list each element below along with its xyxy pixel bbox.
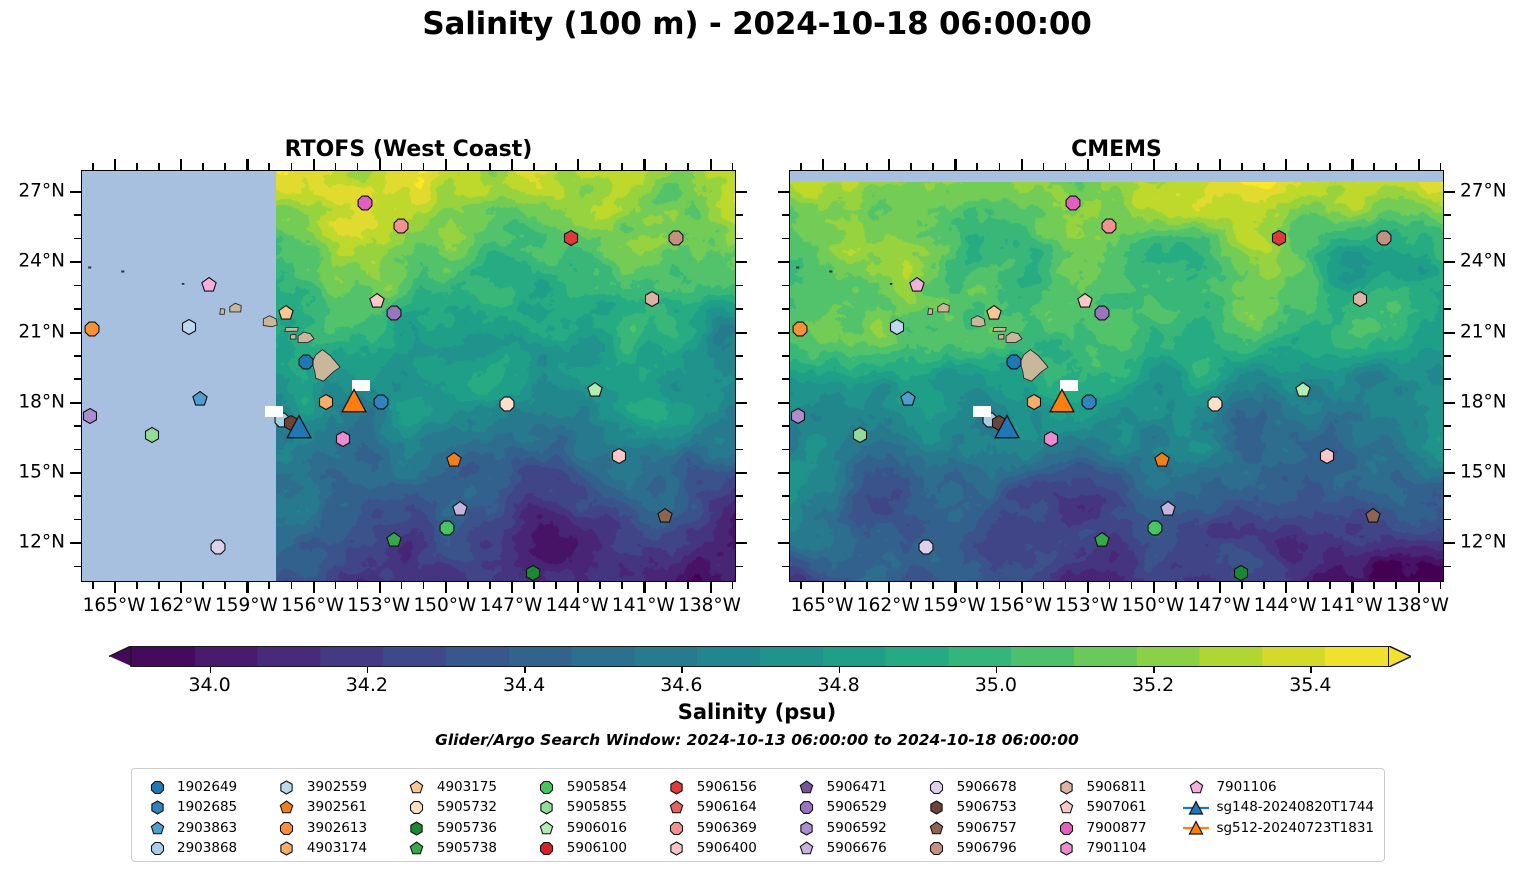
colorbar-tick-label: 34.2 xyxy=(346,674,388,696)
legend-item-5906796[interactable]: 5906796 xyxy=(922,839,1052,860)
x-tick xyxy=(1440,163,1442,170)
colorbar xyxy=(131,646,1389,667)
legend-item-7901104[interactable]: 7901104 xyxy=(1052,839,1182,860)
y-tick xyxy=(736,378,743,380)
x-tick xyxy=(335,163,337,170)
x-tick xyxy=(268,582,270,589)
argo-marker-5906016[interactable] xyxy=(1293,381,1312,400)
x-tick xyxy=(1440,582,1442,589)
x-tick xyxy=(445,582,447,593)
argo-marker-1902649[interactable] xyxy=(296,352,315,371)
x-axis-label: 144°W xyxy=(546,595,609,616)
argo-marker-5905854[interactable] xyxy=(1146,519,1165,538)
legend-item-3902561[interactable]: 3902561 xyxy=(272,798,402,819)
argo-marker-5905738[interactable] xyxy=(385,530,404,549)
argo-marker-5906369[interactable] xyxy=(391,217,410,236)
argo-marker-3902613[interactable] xyxy=(791,320,810,339)
legend-item-3902613[interactable]: 3902613 xyxy=(272,818,402,839)
y-tick xyxy=(782,238,789,240)
y-tick xyxy=(74,214,81,216)
legend[interactable]: 1902649390255949031755905854590615659064… xyxy=(131,768,1385,862)
legend-label: 5906471 xyxy=(827,781,887,795)
argo-marker-4903174[interactable] xyxy=(316,392,335,411)
legend-item-5906471[interactable]: 5906471 xyxy=(792,777,922,798)
marker-glyph xyxy=(610,446,629,465)
legend-item-5906757[interactable]: 5906757 xyxy=(922,818,1052,839)
argo-marker-7900877[interactable] xyxy=(1064,193,1083,212)
x-tick xyxy=(599,163,601,170)
legend-marker-hexagon-icon xyxy=(664,779,690,796)
x-tick xyxy=(1131,163,1133,170)
colorbar-tick-label: 35.0 xyxy=(975,674,1017,696)
x-tick xyxy=(1109,163,1111,170)
y-tick xyxy=(1444,191,1455,193)
argo-marker-3902613[interactable] xyxy=(83,320,102,339)
legend-item-7900877[interactable]: 7900877 xyxy=(1052,818,1182,839)
y-tick xyxy=(736,566,743,568)
legend-marker-pentagon-icon xyxy=(1054,799,1080,816)
x-tick xyxy=(1285,582,1287,593)
legend-item-5906156[interactable]: 5906156 xyxy=(662,777,792,798)
marker-glyph xyxy=(438,519,457,538)
argo-marker-5906678[interactable] xyxy=(916,537,935,556)
argo-marker-5906016[interactable] xyxy=(585,381,604,400)
marker-glyph xyxy=(1293,381,1312,400)
argo-marker-1902685[interactable] xyxy=(1079,392,1098,411)
x-tick xyxy=(1087,159,1089,170)
legend-label: 5906529 xyxy=(827,801,887,815)
marker-glyph xyxy=(524,563,543,582)
legend-item-5906753[interactable]: 5906753 xyxy=(922,798,1052,819)
x-axis-label: 153°W xyxy=(347,595,410,616)
legend-item-sg148-20240820T1744[interactable]: sg148-20240820T1744 xyxy=(1181,798,1374,819)
x-axis-label: 147°W xyxy=(1188,595,1251,616)
x-tick xyxy=(822,159,824,170)
x-tick xyxy=(511,159,513,170)
x-tick xyxy=(379,582,381,593)
marker-glyph xyxy=(83,320,102,339)
y-tick xyxy=(70,542,81,544)
figure: Salinity (100 m) - 2024-10-18 06:00:00 R… xyxy=(0,0,1514,889)
y-tick xyxy=(1444,214,1451,216)
y-tick xyxy=(736,332,747,334)
argo-marker-1902649[interactable] xyxy=(1004,352,1023,371)
x-tick xyxy=(180,582,182,593)
legend-item-5906811[interactable]: 5906811 xyxy=(1052,777,1182,798)
x-axis-label: 156°W xyxy=(281,595,344,616)
legend-item-4903175[interactable]: 4903175 xyxy=(402,777,532,798)
argo-marker-4903175[interactable] xyxy=(985,303,1004,322)
argo-marker-7901106[interactable] xyxy=(199,275,218,294)
y-axis-label: 27°N xyxy=(1460,181,1507,202)
argo-marker-5905738[interactable] xyxy=(1093,530,1112,549)
x-tick xyxy=(158,582,160,589)
y-tick xyxy=(1444,472,1455,474)
legend-label: 2903868 xyxy=(177,842,237,856)
y-tick xyxy=(1444,285,1451,287)
legend-item-5905854[interactable]: 5905854 xyxy=(532,777,662,798)
legend-marker-octagon-icon xyxy=(534,840,560,857)
legend-label: 1902649 xyxy=(177,781,237,795)
x-tick xyxy=(1241,163,1243,170)
argo-marker-sg512-20240723T1831[interactable] xyxy=(342,390,366,414)
argo-marker-5906592[interactable] xyxy=(80,406,99,425)
legend-marker-pentagon-icon xyxy=(144,820,170,837)
glider-label-box xyxy=(973,406,991,417)
x-tick xyxy=(888,582,890,593)
marker-glyph xyxy=(1050,390,1074,414)
marker-glyph xyxy=(180,317,199,336)
argo-marker-5905736[interactable] xyxy=(1232,563,1251,582)
marker-glyph xyxy=(444,451,463,470)
legend-item-7901106[interactable]: 7901106 xyxy=(1181,777,1374,798)
x-tick xyxy=(1263,163,1265,170)
legend-item-5906592[interactable]: 5906592 xyxy=(792,818,922,839)
x-tick xyxy=(489,582,491,589)
legend-marker-pentagon-icon xyxy=(1183,779,1209,796)
marker-glyph xyxy=(367,292,386,311)
argo-marker-1902685[interactable] xyxy=(371,392,390,411)
x-tick xyxy=(224,163,226,170)
legend-item-2903863[interactable]: 2903863 xyxy=(142,818,272,839)
legend-item-5906400[interactable]: 5906400 xyxy=(662,839,792,860)
legend-label: 5906678 xyxy=(957,781,1017,795)
y-tick xyxy=(736,495,743,497)
marker-glyph xyxy=(1318,446,1337,465)
y-tick xyxy=(782,378,789,380)
argo-marker-5906529[interactable] xyxy=(1093,303,1112,322)
x-tick xyxy=(999,582,1001,589)
legend-item-5906164[interactable]: 5906164 xyxy=(662,798,792,819)
x-tick xyxy=(1175,163,1177,170)
x-tick xyxy=(1329,163,1331,170)
argo-marker-5905855[interactable] xyxy=(142,425,161,444)
x-tick xyxy=(1131,582,1133,589)
glider-label-box xyxy=(265,406,283,417)
x-tick xyxy=(1395,163,1397,170)
x-tick xyxy=(224,582,226,589)
argo-marker-2903863[interactable] xyxy=(191,390,210,409)
y-tick xyxy=(782,308,789,310)
y-axis-label: 24°N xyxy=(1460,251,1507,272)
marker-glyph xyxy=(1042,430,1061,449)
marker-glyph xyxy=(561,228,580,247)
x-tick xyxy=(800,163,802,170)
y-tick xyxy=(1444,355,1451,357)
marker-glyph xyxy=(1093,530,1112,549)
marker-glyph xyxy=(1205,395,1224,414)
legend-marker-octagon-icon xyxy=(534,779,560,796)
search-window-caption: Glider/Argo Search Window: 2024-10-13 06… xyxy=(0,731,1514,749)
x-tick xyxy=(932,582,934,589)
x-axis-label: 144°W xyxy=(1254,595,1317,616)
legend-marker-octagon-icon xyxy=(794,799,820,816)
y-tick xyxy=(1444,542,1455,544)
x-tick xyxy=(180,159,182,170)
colorbar-tick xyxy=(1153,667,1155,673)
legend-marker-pentagon-icon xyxy=(404,840,430,857)
y-tick xyxy=(1444,402,1455,404)
argo-marker-5906676[interactable] xyxy=(1159,500,1178,519)
argo-marker-5905855[interactable] xyxy=(850,425,869,444)
legend-item-5907061[interactable]: 5907061 xyxy=(1052,798,1182,819)
argo-marker-3902561[interactable] xyxy=(1152,451,1171,470)
legend-label: 5905732 xyxy=(437,801,497,815)
y-axis-label: 15°N xyxy=(18,461,65,482)
legend-item-5906016[interactable]: 5906016 xyxy=(532,818,662,839)
y-tick xyxy=(778,542,789,544)
panel-rtofs: RTOFS (West Coast) 165°W162°W159°W156°W1… xyxy=(81,170,736,582)
x-tick xyxy=(844,582,846,589)
y-tick xyxy=(736,425,743,427)
marker-glyph xyxy=(916,537,935,556)
argo-marker-5906156[interactable] xyxy=(561,228,580,247)
legend-marker-pentagon-icon xyxy=(794,840,820,857)
x-tick xyxy=(114,582,116,593)
x-tick xyxy=(1065,582,1067,589)
x-tick xyxy=(888,159,890,170)
x-tick xyxy=(313,159,315,170)
x-tick xyxy=(866,163,868,170)
legend-item-2903868[interactable]: 2903868 xyxy=(142,839,272,860)
x-tick xyxy=(268,163,270,170)
marker-glyph xyxy=(1093,303,1112,322)
colorbar-tick xyxy=(367,667,369,673)
marker-glyph xyxy=(1024,392,1043,411)
argo-marker-5906400[interactable] xyxy=(1318,446,1337,465)
argo-marker-4903175[interactable] xyxy=(277,303,296,322)
marker-glyph xyxy=(1079,392,1098,411)
x-tick xyxy=(423,163,425,170)
x-tick xyxy=(489,163,491,170)
argo-marker-sg148-20240820T1744[interactable] xyxy=(287,416,311,440)
x-tick xyxy=(92,582,94,589)
argo-marker-3902559[interactable] xyxy=(888,317,907,336)
argo-marker-5906757[interactable] xyxy=(656,507,675,526)
x-tick xyxy=(643,159,645,170)
x-tick xyxy=(665,582,667,589)
x-tick xyxy=(92,163,94,170)
argo-marker-5906592[interactable] xyxy=(788,406,807,425)
x-tick xyxy=(1285,159,1287,170)
marker-glyph xyxy=(899,390,918,409)
y-tick xyxy=(778,191,789,193)
legend-item-sg512-20240723T1831[interactable]: sg512-20240723T1831 xyxy=(1181,818,1374,839)
argo-marker-5906400[interactable] xyxy=(610,446,629,465)
x-axis-label: 165°W xyxy=(791,595,854,616)
y-tick xyxy=(736,308,743,310)
argo-marker-5906757[interactable] xyxy=(1364,507,1383,526)
x-tick xyxy=(822,582,824,593)
x-axis-label: 147°W xyxy=(480,595,543,616)
marker-glyph xyxy=(850,425,869,444)
marker-glyph xyxy=(1351,289,1370,308)
y-tick xyxy=(1444,378,1451,380)
y-tick xyxy=(1444,425,1451,427)
legend-marker-pentagon-icon xyxy=(794,779,820,796)
legend-item-5906369[interactable]: 5906369 xyxy=(662,818,792,839)
argo-marker-5906529[interactable] xyxy=(385,303,404,322)
x-axis-label: 162°W xyxy=(149,595,212,616)
x-tick xyxy=(1109,582,1111,589)
legend-label: 5906016 xyxy=(567,822,627,836)
x-tick xyxy=(401,163,403,170)
argo-marker-5907061[interactable] xyxy=(367,292,386,311)
x-tick xyxy=(158,163,160,170)
x-tick xyxy=(932,163,934,170)
argo-marker-5905732[interactable] xyxy=(497,395,516,414)
argo-marker-7900877[interactable] xyxy=(356,193,375,212)
legend-item-1902649[interactable]: 1902649 xyxy=(142,777,272,798)
argo-marker-5906796[interactable] xyxy=(667,228,686,247)
argo-marker-5906369[interactable] xyxy=(1099,217,1118,236)
legend-item-5906676[interactable]: 5906676 xyxy=(792,839,922,860)
y-tick xyxy=(74,495,81,497)
argo-marker-2903863[interactable] xyxy=(899,390,918,409)
y-tick xyxy=(1444,519,1451,521)
argo-marker-5906811[interactable] xyxy=(1351,289,1370,308)
x-tick xyxy=(1395,582,1397,589)
no-data-strip xyxy=(790,171,1443,182)
marker-glyph xyxy=(371,392,390,411)
x-tick xyxy=(114,159,116,170)
argo-marker-sg512-20240723T1831[interactable] xyxy=(1050,390,1074,414)
colorbar-tick xyxy=(524,667,526,673)
x-tick xyxy=(357,582,359,589)
marker-glyph xyxy=(142,425,161,444)
legend-item-5906100[interactable]: 5906100 xyxy=(532,839,662,860)
argo-marker-5906811[interactable] xyxy=(643,289,662,308)
x-tick xyxy=(1043,163,1045,170)
x-tick xyxy=(1373,163,1375,170)
x-tick xyxy=(202,582,204,589)
legend-marker-octagon-icon xyxy=(274,820,300,837)
argo-marker-sg148-20240820T1744[interactable] xyxy=(995,416,1019,440)
marker-glyph xyxy=(277,303,296,322)
y-tick xyxy=(1444,308,1451,310)
y-tick xyxy=(1444,495,1451,497)
y-tick xyxy=(778,261,789,263)
y-tick xyxy=(74,425,81,427)
marker-glyph xyxy=(385,530,404,549)
marker-glyph xyxy=(656,507,675,526)
argo-marker-5905854[interactable] xyxy=(438,519,457,538)
x-axis-label: 138°W xyxy=(678,595,741,616)
y-tick xyxy=(1444,449,1451,451)
legend-item-5905736[interactable]: 5905736 xyxy=(402,818,532,839)
y-tick xyxy=(1444,261,1455,263)
x-tick xyxy=(665,163,667,170)
legend-item-5906678[interactable]: 5906678 xyxy=(922,777,1052,798)
argo-marker-5906678[interactable] xyxy=(208,537,227,556)
y-tick xyxy=(70,191,81,193)
marker-glyph xyxy=(385,303,404,322)
colorbar-tick xyxy=(681,667,683,673)
x-tick xyxy=(599,582,601,589)
x-tick xyxy=(1153,159,1155,170)
y-tick xyxy=(736,449,743,451)
y-tick xyxy=(736,542,747,544)
legend-marker-glider-icon xyxy=(1183,820,1209,836)
x-tick xyxy=(954,582,956,593)
x-tick xyxy=(246,582,248,593)
legend-item-5905732[interactable]: 5905732 xyxy=(402,798,532,819)
y-tick xyxy=(736,238,743,240)
x-tick xyxy=(1241,582,1243,589)
legend-marker-hexagon-icon xyxy=(794,820,820,837)
marker-glyph xyxy=(80,406,99,425)
legend-label: 5906369 xyxy=(697,822,757,836)
x-tick xyxy=(423,582,425,589)
argo-marker-5906676[interactable] xyxy=(451,500,470,519)
x-tick xyxy=(1418,582,1420,593)
x-tick xyxy=(976,163,978,170)
argo-marker-3902561[interactable] xyxy=(444,451,463,470)
legend-item-5906529[interactable]: 5906529 xyxy=(792,798,922,819)
legend-item-5905738[interactable]: 5905738 xyxy=(402,839,532,860)
x-tick xyxy=(999,163,1001,170)
colorbar-tick xyxy=(996,667,998,673)
argo-marker-5906156[interactable] xyxy=(1269,228,1288,247)
x-axis-label: 162°W xyxy=(857,595,920,616)
legend-marker-hexagon-icon xyxy=(664,840,690,857)
colorbar-extend-max xyxy=(1389,646,1411,666)
x-tick xyxy=(467,163,469,170)
argo-marker-3902559[interactable] xyxy=(180,317,199,336)
x-tick xyxy=(732,163,734,170)
x-tick xyxy=(1197,582,1199,589)
marker-glyph xyxy=(342,390,366,414)
y-tick xyxy=(736,519,743,521)
argo-marker-5905732[interactable] xyxy=(1205,395,1224,414)
colorbar-tick-label: 34.8 xyxy=(817,674,859,696)
x-tick xyxy=(1351,159,1353,170)
legend-marker-hexagon-icon xyxy=(924,799,950,816)
legend-label: 5906592 xyxy=(827,822,887,836)
legend-marker-hexagon-icon xyxy=(274,779,300,796)
x-tick xyxy=(1263,582,1265,589)
y-tick xyxy=(74,308,81,310)
x-tick xyxy=(1087,582,1089,593)
argo-marker-7901104[interactable] xyxy=(334,430,353,449)
argo-marker-5906796[interactable] xyxy=(1375,228,1394,247)
legend-item-3902559[interactable]: 3902559 xyxy=(272,777,402,798)
x-tick xyxy=(555,163,557,170)
x-tick xyxy=(1329,582,1331,589)
argo-marker-5905736[interactable] xyxy=(524,563,543,582)
marker-glyph xyxy=(667,228,686,247)
legend-item-1902685[interactable]: 1902685 xyxy=(142,798,272,819)
x-tick xyxy=(357,163,359,170)
panel-cmems: CMEMS 165°W162°W159°W156°W153°W150°W147°… xyxy=(789,170,1444,582)
argo-marker-4903174[interactable] xyxy=(1024,392,1043,411)
argo-marker-7901106[interactable] xyxy=(907,275,926,294)
argo-marker-5907061[interactable] xyxy=(1075,292,1094,311)
legend-item-4903174[interactable]: 4903174 xyxy=(272,839,402,860)
y-axis-label: 21°N xyxy=(1460,321,1507,342)
x-axis-label: 150°W xyxy=(1121,595,1184,616)
x-tick xyxy=(621,582,623,589)
y-tick xyxy=(74,519,81,521)
legend-item-5905855[interactable]: 5905855 xyxy=(532,798,662,819)
x-axis-label: 141°W xyxy=(612,595,675,616)
legend-label: 3902613 xyxy=(307,822,367,836)
marker-glyph xyxy=(199,275,218,294)
colorbar-label: Salinity (psu) xyxy=(0,700,1514,724)
argo-marker-7901104[interactable] xyxy=(1042,430,1061,449)
y-axis-label: 21°N xyxy=(18,321,65,342)
colorbar-gradient xyxy=(131,646,1389,667)
